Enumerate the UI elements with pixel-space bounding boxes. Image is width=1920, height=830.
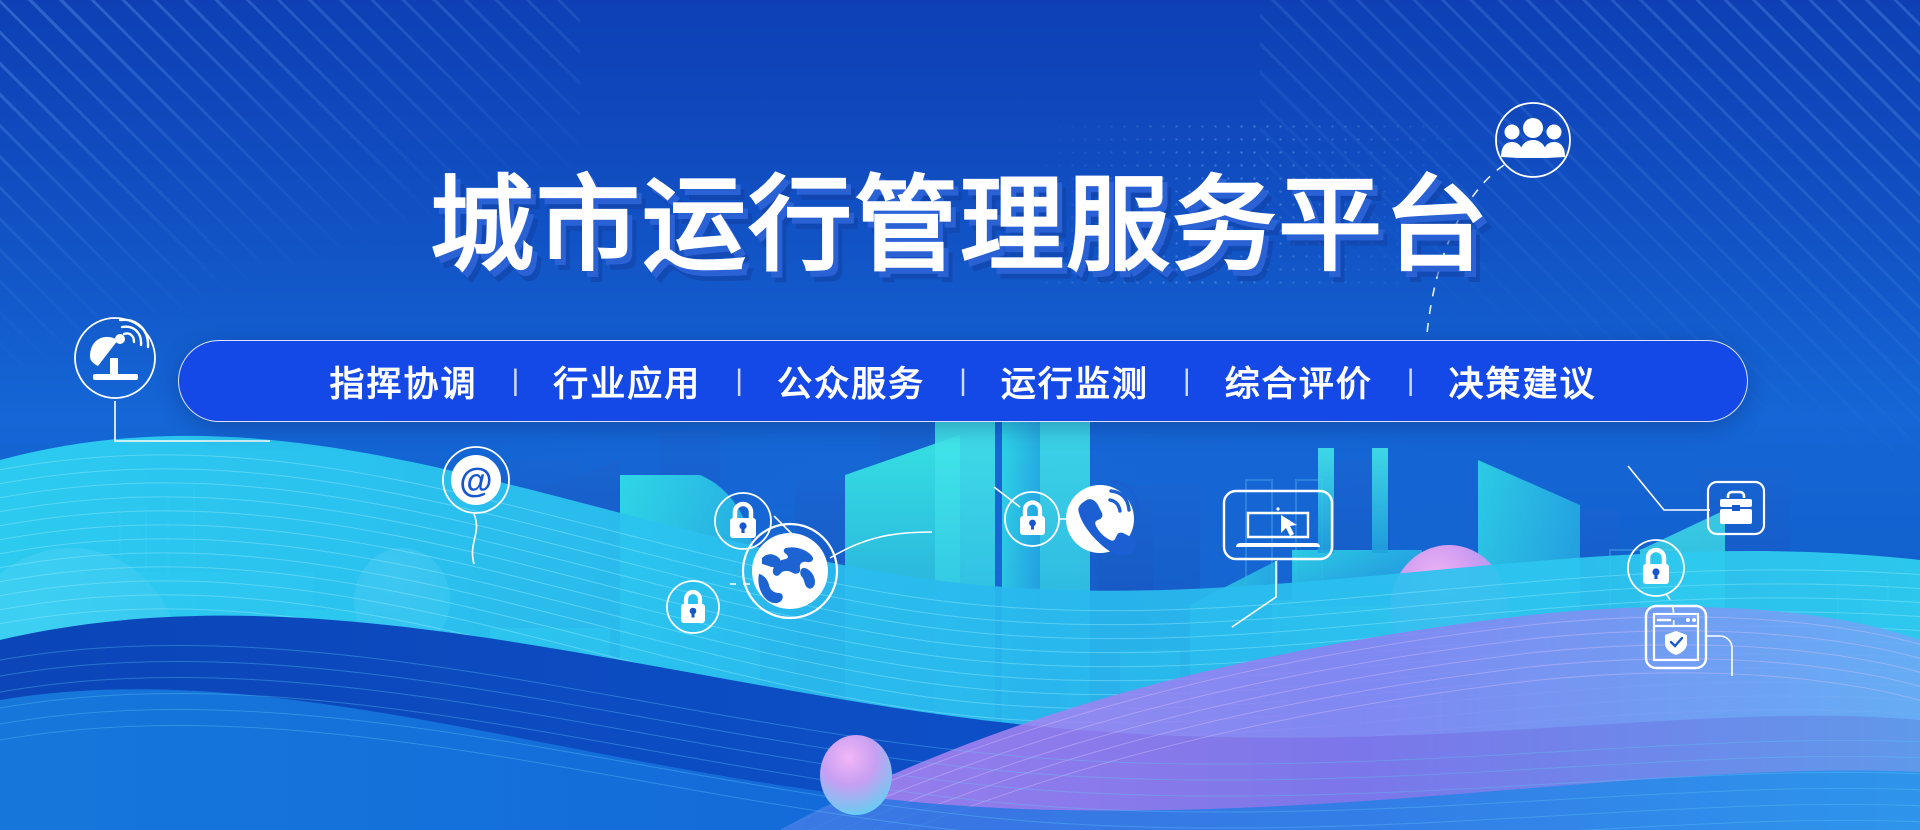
nav-separator-3: | <box>1183 364 1191 398</box>
briefcase-icon <box>1720 492 1752 524</box>
lock-icon <box>1643 550 1669 584</box>
lock-badge-2[interactable] <box>659 573 727 641</box>
nav-item-0[interactable]: 指挥协调 <box>295 356 511 407</box>
lock-icon <box>1020 503 1045 536</box>
nav-separator-4: | <box>1407 364 1415 398</box>
nav-separator-1: | <box>735 364 743 398</box>
nav-item-5[interactable]: 决策建议 <box>1415 356 1631 407</box>
laptop-cursor-badge[interactable] <box>1218 487 1398 647</box>
at-sign-badge[interactable]: @ <box>438 442 548 592</box>
globe-badge[interactable] <box>726 518 986 638</box>
svg-text:@: @ <box>459 462 492 500</box>
nav-separator-2: | <box>959 364 967 398</box>
nav-item-2[interactable]: 公众服务 <box>743 356 959 407</box>
globe-icon <box>752 533 828 609</box>
nav-item-3[interactable]: 运行监测 <box>967 356 1183 407</box>
satellite-dish-icon <box>90 334 138 380</box>
nav-separator-0: | <box>511 364 519 398</box>
at-sign-icon: @ <box>451 455 501 505</box>
main-nav: 指挥协调 | 行业应用 | 公众服务 | 运行监测 | 综合评价 | 决策建议 <box>178 340 1748 422</box>
city-platform-banner: @ <box>0 0 1920 830</box>
lock-icon <box>681 592 705 623</box>
browser-shield-badge[interactable] <box>1640 602 1820 742</box>
page-title: 城市运行管理服务平台 <box>0 168 1920 284</box>
people-group-icon <box>1501 118 1565 158</box>
laptop-cursor-icon <box>1236 507 1320 547</box>
nav-item-4[interactable]: 综合评价 <box>1191 356 1407 407</box>
nav-item-1[interactable]: 行业应用 <box>519 356 735 407</box>
phone-ringing-badge[interactable] <box>1058 477 1142 561</box>
browser-shield-icon <box>1654 614 1698 660</box>
